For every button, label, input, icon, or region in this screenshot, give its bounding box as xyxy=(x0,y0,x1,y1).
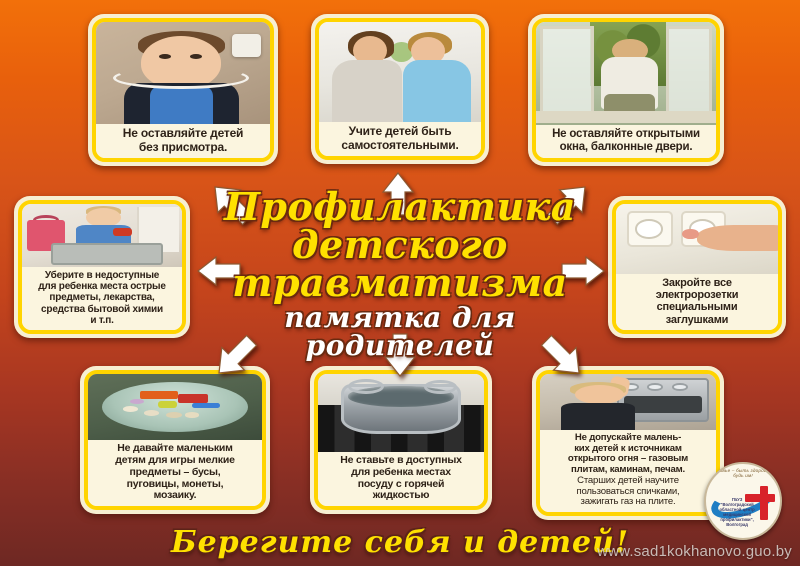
card-inner: Не давайте маленьким детям для игры мелк… xyxy=(84,370,266,510)
photo-boiling-pot xyxy=(318,374,484,452)
caption-line: мозаику. xyxy=(154,489,197,501)
caption-line: Уберите в недоступные xyxy=(45,270,159,281)
card-hot-liquids[interactable]: Не ставьте в доступных для ребенка места… xyxy=(310,366,492,514)
card-inner: Уберите в недоступные для ребенка места … xyxy=(18,200,186,334)
card-caption: Не оставляйте открытыми окна, балконные … xyxy=(536,125,716,158)
logo-center-text: ГБУЗ "Волгоградский областной центр меди… xyxy=(716,497,757,528)
caption-subline: зажигать газ на плите. xyxy=(543,497,713,508)
card-inner: Не допускайте малень- ких детей к источн… xyxy=(536,370,720,516)
caption-line: без присмотра. xyxy=(139,140,227,154)
card-caption: Не оставляйте детей без присмотра. xyxy=(96,124,270,158)
card-windows[interactable]: Не оставляйте открытыми окна, балконные … xyxy=(528,14,724,166)
caption-line: и т.п. xyxy=(90,315,113,326)
caption-line: Не оставляйте детей xyxy=(123,126,243,140)
caption-line: плитам, каминам, печам. xyxy=(571,464,685,475)
card-inner: Не оставляйте открытыми окна, балконные … xyxy=(532,18,720,162)
logo-arc-text: Здоровье – быть здоровым – будь им! xyxy=(706,468,780,478)
caption-line: заглушками xyxy=(666,314,728,326)
caption-line: Не допускайте малень- xyxy=(575,432,681,443)
caption-line: специальными xyxy=(657,301,738,313)
caption-line: предметы – бусы, xyxy=(130,466,221,478)
wall-outlet-shape xyxy=(232,34,262,56)
caption-line: для ребенка места острые xyxy=(38,281,165,292)
card-caption: Не давайте маленьким детям для игры мелк… xyxy=(88,440,262,506)
caption-line: Учите детей быть xyxy=(349,124,452,138)
card-caption: Не допускайте малень- ких детей к источн… xyxy=(540,430,716,512)
organization-logo-icon: Здоровье – быть здоровым – будь им! ГБУЗ… xyxy=(704,462,782,540)
caption-line: самостоятельными. xyxy=(341,138,458,152)
card-inner: Не ставьте в доступных для ребенка места… xyxy=(314,370,488,510)
caption-line: Не давайте маленьким xyxy=(117,442,232,454)
card-caption: Уберите в недоступные для ребенка места … xyxy=(22,267,182,330)
safety-poster: Не оставляйте детей без присмотра. Учите… xyxy=(0,0,800,566)
caption-line: пуговицы, монеты, xyxy=(127,478,224,490)
caption-line: электророзетки xyxy=(656,289,739,301)
card-independence[interactable]: Учите детей быть самостоятельными. xyxy=(311,14,489,164)
card-supervision[interactable]: Не оставляйте детей без присмотра. xyxy=(88,14,278,166)
caption-line: детям для игры мелкие xyxy=(115,454,234,466)
card-outlets[interactable]: Закройте все электророзетки специальными… xyxy=(608,196,786,338)
red-cross-icon xyxy=(760,486,768,520)
card-small-objects[interactable]: Не давайте маленьким детям для игры мелк… xyxy=(80,366,270,514)
site-watermark: www.sad1kokhanovo.guo.by xyxy=(597,543,792,560)
caption-line: окна, балконные двери. xyxy=(560,141,693,153)
caption-line: для ребенка местах xyxy=(351,466,451,478)
photo-mother-and-son xyxy=(319,22,481,122)
title-line-2: детского xyxy=(214,226,586,264)
caption-line: Не ставьте в доступных xyxy=(340,454,462,466)
caption-line: жидкостью xyxy=(373,489,430,501)
caption-line: средства бытовой химии xyxy=(41,304,163,315)
card-caption: Не ставьте в доступных для ребенка места… xyxy=(318,452,484,506)
caption-line: открытого огня – газовым xyxy=(568,453,688,464)
card-caption: Закройте все электророзетки специальными… xyxy=(616,274,778,330)
caption-line: Закройте все xyxy=(662,277,732,289)
card-open-fire[interactable]: Не допускайте малень- ких детей к источн… xyxy=(532,366,724,520)
photo-baby-with-cord xyxy=(96,22,270,124)
footer-slogan: Берегите себя и детей! xyxy=(171,525,629,560)
caption-subline: Старших детей научите xyxy=(543,476,713,487)
title-line-3: травматизма xyxy=(214,264,586,302)
caption-line: посуду с горячей xyxy=(358,478,445,490)
photo-baby-at-drawer xyxy=(22,204,182,267)
card-inner: Учите детей быть самостоятельными. xyxy=(315,18,485,160)
photo-outlet-cover xyxy=(616,204,778,274)
card-inner: Не оставляйте детей без присмотра. xyxy=(92,18,274,162)
caption-line: Не оставляйте открытыми xyxy=(552,128,700,140)
card-sharp-objects[interactable]: Уберите в недоступные для ребенка места … xyxy=(14,196,190,338)
caption-line: предметы, лекарства, xyxy=(49,292,154,303)
card-caption: Учите детей быть самостоятельными. xyxy=(319,122,481,156)
card-inner: Закройте все электророзетки специальными… xyxy=(612,200,782,334)
caption-line: ких детей к источникам xyxy=(574,443,682,454)
photo-child-at-window xyxy=(536,22,716,125)
